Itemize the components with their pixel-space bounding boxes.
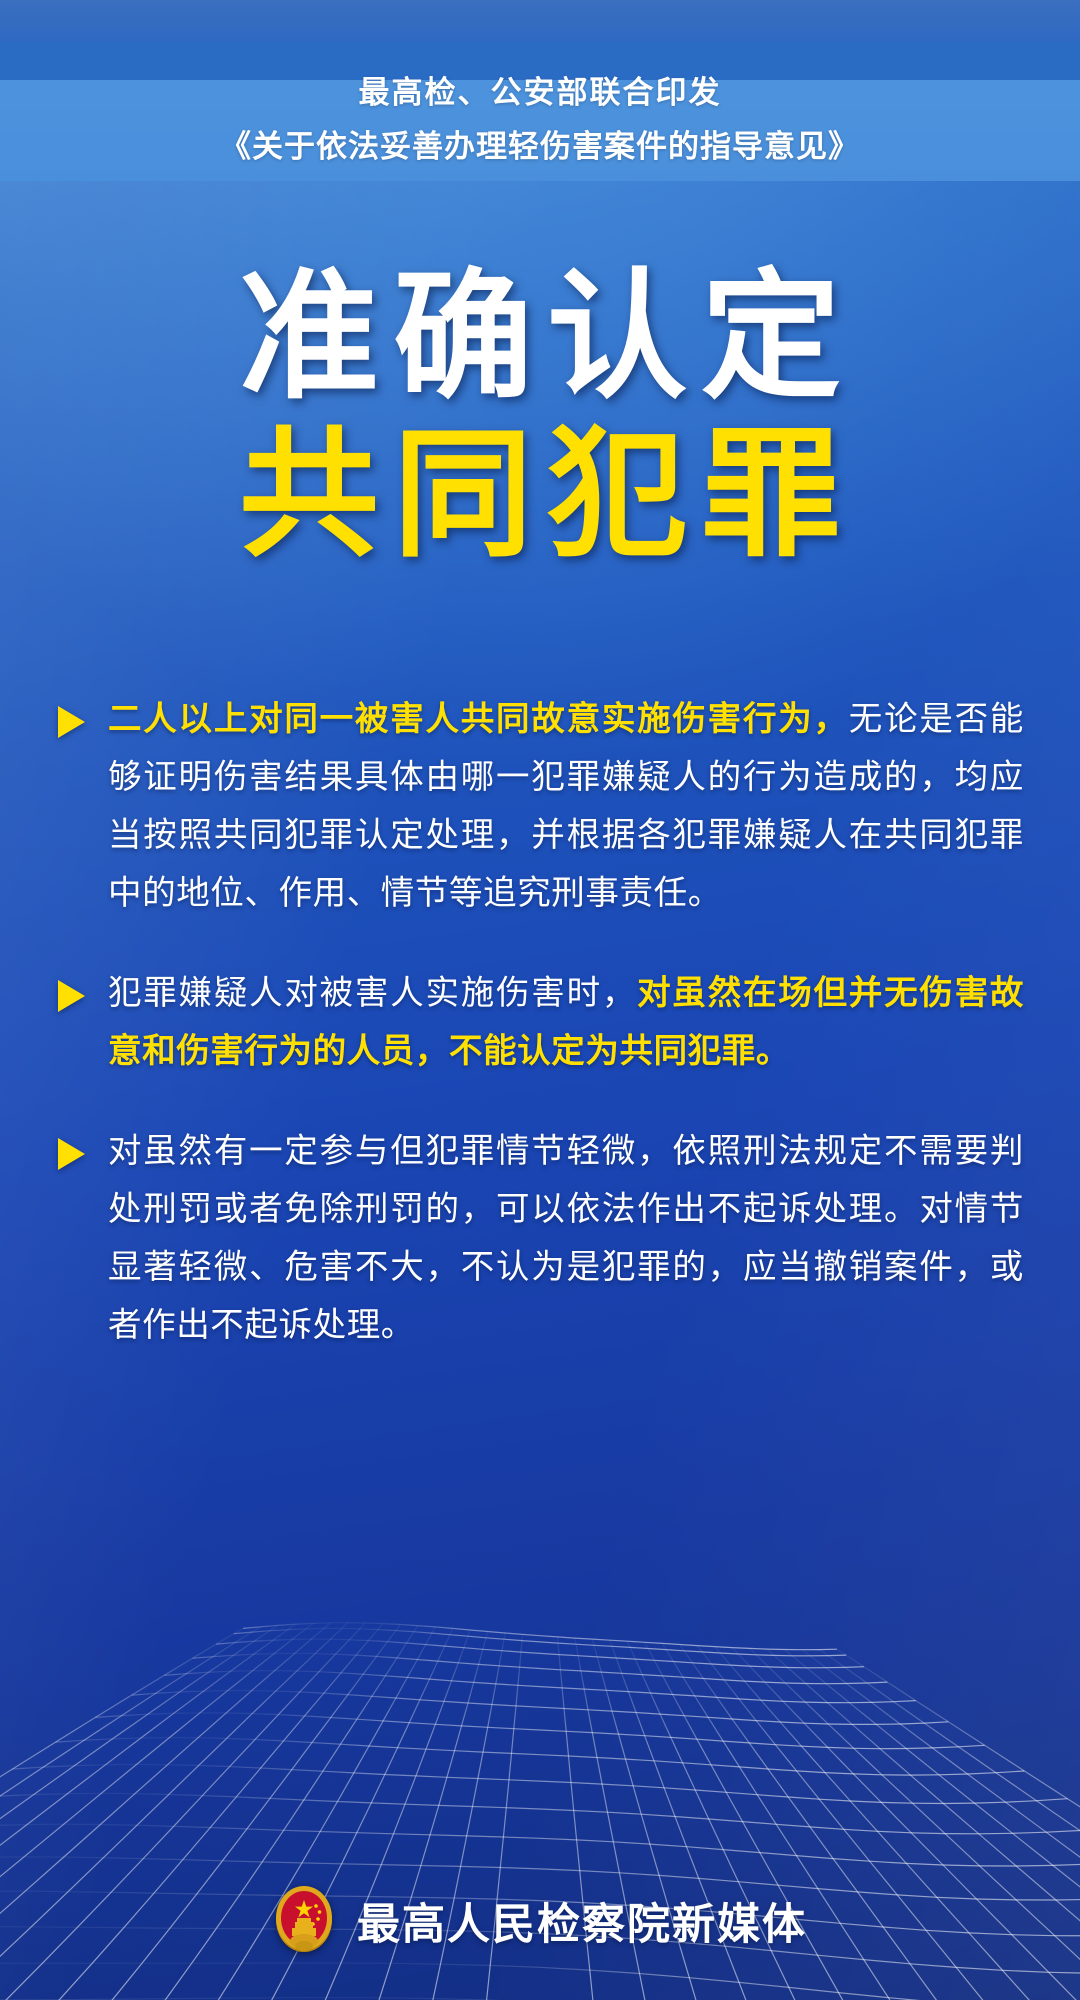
body-text: 对虽然有一定参与但犯罪情节轻微，依照刑法规定不需要判处刑罚或者免除刑罚的，可以依… xyxy=(108,1131,1024,1344)
title-line-secondary: 共同犯罪 xyxy=(0,420,1080,570)
header-top-strip xyxy=(0,0,1080,42)
page-title: 准确认定 共同犯罪 xyxy=(0,262,1080,570)
bullet-paragraph: 二人以上对同一被害人共同故意实施伤害行为，无论是否能够证明伤害结果具体由哪一犯罪… xyxy=(56,690,1024,922)
triangle-bullet-icon xyxy=(58,1138,85,1170)
footer: 最高人民检察院新媒体 xyxy=(0,1884,1080,1958)
triangle-bullet-icon xyxy=(58,706,85,738)
triangle-bullet-icon xyxy=(58,980,85,1012)
header-line-1: 最高检、公安部联合印发 xyxy=(0,66,1080,120)
bullet-paragraph: 犯罪嫌疑人对被害人实施伤害时，对虽然在场但并无伤害故意和伤害行为的人员，不能认定… xyxy=(56,964,1024,1080)
body-text: 犯罪嫌疑人对被害人实施伤害时， xyxy=(108,973,637,1012)
footer-label: 最高人民检察院新媒体 xyxy=(357,1890,807,1952)
header-subtitle: 最高检、公安部联合印发 《关于依法妥善办理轻伤害案件的指导意见》 xyxy=(0,66,1080,174)
title-line-primary: 准确认定 xyxy=(0,262,1080,412)
paragraph-text: 二人以上对同一被害人共同故意实施伤害行为，无论是否能够证明伤害结果具体由哪一犯罪… xyxy=(108,699,1024,912)
body-content: 二人以上对同一被害人共同故意实施伤害行为，无论是否能够证明伤害结果具体由哪一犯罪… xyxy=(56,690,1024,1396)
highlighted-text: 二人以上对同一被害人共同故意实施伤害行为， xyxy=(108,699,849,738)
paragraph-text: 犯罪嫌疑人对被害人实施伤害时，对虽然在场但并无伤害故意和伤害行为的人员，不能认定… xyxy=(108,973,1024,1070)
bullet-paragraph: 对虽然有一定参与但犯罪情节轻微，依照刑法规定不需要判处刑罚或者免除刑罚的，可以依… xyxy=(56,1122,1024,1354)
paragraph-text: 对虽然有一定参与但犯罪情节轻微，依照刑法规定不需要判处刑罚或者免除刑罚的，可以依… xyxy=(108,1131,1024,1344)
procuratorate-emblem-icon xyxy=(273,1884,335,1958)
header-line-2: 《关于依法妥善办理轻伤害案件的指导意见》 xyxy=(0,120,1080,174)
poster-canvas: 最高检、公安部联合印发 《关于依法妥善办理轻伤害案件的指导意见》 准确认定 共同… xyxy=(0,0,1080,2000)
